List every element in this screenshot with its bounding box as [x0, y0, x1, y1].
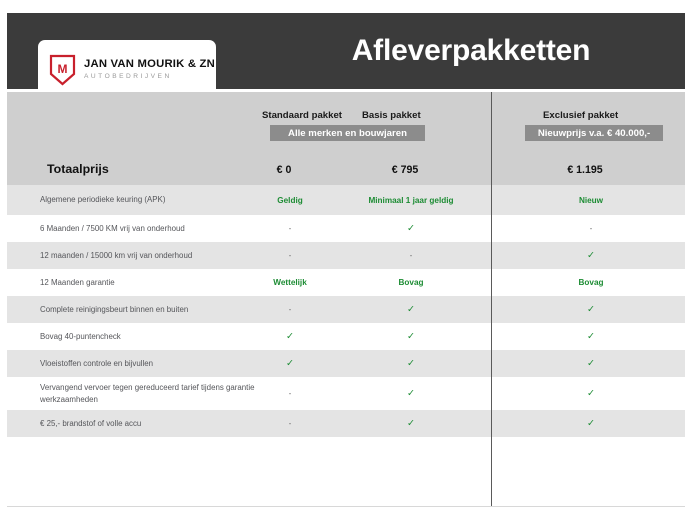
shield-monogram-icon: M	[49, 54, 76, 86]
row-value-exclusief: ✓	[545, 388, 637, 399]
row-value-exclusief: ✓	[545, 418, 637, 429]
svg-text:M: M	[58, 62, 68, 76]
row-value-exclusief: ✓	[545, 331, 637, 342]
table-row: 12 maanden / 15000 km vrij van onderhoud…	[7, 242, 685, 269]
row-label: 12 maanden / 15000 km vrij van onderhoud	[40, 250, 255, 261]
page-title: Afleverpakketten	[257, 13, 685, 89]
table-column-divider	[491, 185, 492, 506]
row-value-basis: Minimaal 1 jaar geldig	[365, 196, 457, 205]
row-value-standaard: -	[245, 251, 335, 260]
column-header-basis: Basis pakket	[362, 110, 421, 121]
totaalprijs-label: Totaalprijs	[47, 162, 109, 176]
table-footer-spacer	[7, 437, 685, 477]
logo-company-name: JAN VAN MOURIK & ZN	[84, 59, 215, 71]
totaalprijs-standaard: € 0	[244, 164, 324, 176]
row-value-basis: ✓	[365, 388, 457, 399]
row-value-basis: ✓	[365, 304, 457, 315]
column-header-exclusief: Exclusief pakket	[543, 110, 618, 121]
totaalprijs-exclusief: € 1.195	[545, 164, 625, 176]
header-column-divider	[491, 92, 492, 185]
row-value-standaard: Wettelijk	[245, 278, 335, 287]
row-value-basis: ✓	[365, 418, 457, 429]
row-label: Algemene periodieke keuring (APK)	[40, 194, 255, 205]
row-value-standaard: -	[245, 305, 335, 314]
row-value-exclusief: Nieuw	[545, 196, 637, 205]
table-row: Algemene periodieke keuring (APK)GeldigM…	[7, 185, 685, 215]
logo-wordmark: JAN VAN MOURIK & ZN AUTOBEDRIJVEN	[84, 59, 215, 80]
table-row: Bovag 40-puntencheck✓✓✓	[7, 323, 685, 350]
row-value-standaard: -	[245, 419, 335, 428]
badge-nieuwprijs: Nieuwprijs v.a. € 40.000,-	[525, 125, 663, 141]
table-row: Vloeistoffen controle en bijvullen✓✓✓	[7, 350, 685, 377]
row-value-exclusief: ✓	[545, 304, 637, 315]
feature-comparison-table: Algemene periodieke keuring (APK)GeldigM…	[7, 185, 685, 507]
row-value-exclusief: -	[545, 224, 637, 233]
table-row: Complete reinigingsbeurt binnen en buite…	[7, 296, 685, 323]
row-label: 12 Maanden garantie	[40, 277, 255, 288]
row-value-basis: Bovag	[365, 278, 457, 287]
afleverpakketten-page: M JAN VAN MOURIK & ZN AUTOBEDRIJVEN Afle…	[0, 0, 685, 514]
table-row: 6 Maanden / 7500 KM vrij van onderhoud-✓…	[7, 215, 685, 242]
table-row: 12 Maanden garantieWettelijkBovagBovag	[7, 269, 685, 296]
row-value-exclusief: ✓	[545, 250, 637, 261]
row-value-standaard: -	[245, 389, 335, 398]
column-header-standaard: Standaard pakket	[262, 110, 342, 121]
row-value-standaard: ✓	[245, 358, 335, 369]
company-logo: M JAN VAN MOURIK & ZN AUTOBEDRIJVEN	[38, 40, 216, 89]
table-row: Vervangend vervoer tegen gereduceerd tar…	[7, 377, 685, 410]
totaalprijs-basis: € 795	[365, 164, 445, 176]
row-label: € 25,- brandstof of volle accu	[40, 418, 255, 429]
row-label: Vervangend vervoer tegen gereduceerd tar…	[40, 382, 255, 405]
row-label: 6 Maanden / 7500 KM vrij van onderhoud	[40, 223, 255, 234]
table-rows-host: Algemene periodieke keuring (APK)GeldigM…	[7, 185, 685, 477]
row-value-exclusief: ✓	[545, 358, 637, 369]
row-value-basis: ✓	[365, 223, 457, 234]
row-value-basis: ✓	[365, 331, 457, 342]
row-value-standaard: Geldig	[245, 196, 335, 205]
header-band: M JAN VAN MOURIK & ZN AUTOBEDRIJVEN Afle…	[7, 13, 685, 89]
row-value-standaard: -	[245, 224, 335, 233]
row-label: Complete reinigingsbeurt binnen en buite…	[40, 304, 255, 315]
row-label: Vloeistoffen controle en bijvullen	[40, 358, 255, 369]
row-value-standaard: ✓	[245, 331, 335, 342]
logo-tagline: AUTOBEDRIJVEN	[84, 73, 215, 80]
table-row: € 25,- brandstof of volle accu-✓✓	[7, 410, 685, 437]
row-value-basis: ✓	[365, 358, 457, 369]
row-value-basis: -	[365, 251, 457, 260]
row-value-exclusief: Bovag	[545, 278, 637, 287]
badge-alle-merken: Alle merken en bouwjaren	[270, 125, 425, 141]
row-label: Bovag 40-puntencheck	[40, 331, 255, 342]
